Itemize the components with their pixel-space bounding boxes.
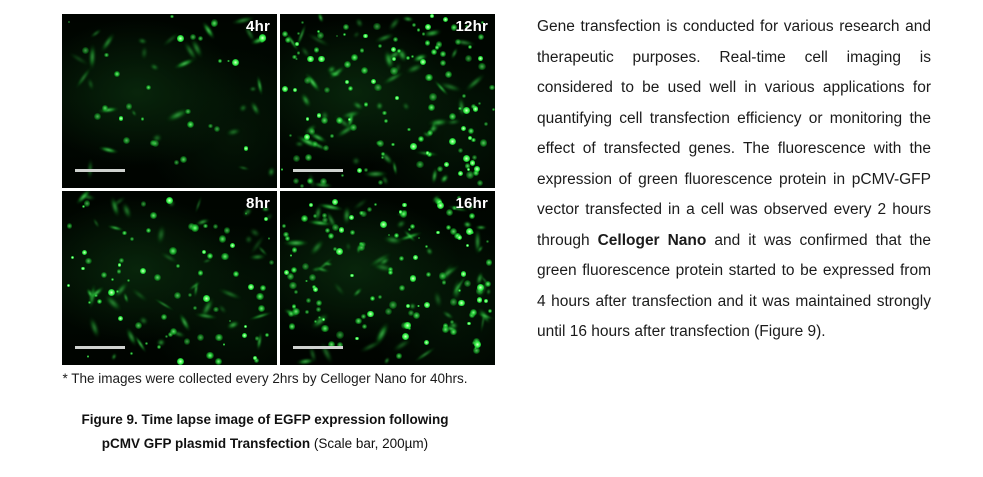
fluorescent-cell [468, 45, 472, 49]
fluorescent-cell [87, 355, 90, 358]
fluorescent-cell [389, 301, 396, 308]
fluorescent-cell [485, 287, 491, 295]
fluorescent-cell-bright [259, 34, 267, 42]
fluorescent-cell [336, 331, 344, 339]
figure-caption-line-2: pCMV GFP plasmid Transfection (Scale bar… [0, 432, 530, 456]
fluorescent-cell [185, 109, 191, 115]
fluorescent-cell [350, 230, 355, 235]
fluorescent-cell [283, 232, 289, 238]
fluorescent-cell [281, 168, 284, 171]
fluorescent-cell [304, 77, 311, 84]
fluorescent-cell [104, 53, 109, 58]
fluorescent-cell [390, 67, 398, 75]
fluorescent-cell [445, 71, 452, 78]
fluorescent-cell [417, 305, 420, 308]
fluorescent-cell [312, 141, 318, 147]
fluorescent-cell [440, 51, 446, 57]
fluorescent-cell [446, 209, 453, 216]
fluorescent-cell [364, 168, 368, 172]
scale-bar-16hr [293, 346, 343, 349]
fluorescent-cell-bright [313, 287, 318, 292]
body-paragraph: Gene transfection is conducted for vario… [537, 12, 931, 348]
fluorescent-cell [102, 105, 108, 111]
fluorescent-cell [305, 310, 308, 313]
fluorescent-cell [219, 235, 227, 243]
fluorescent-cell [211, 19, 219, 27]
fluorescent-cell [293, 155, 300, 162]
fluorescent-cell [117, 269, 122, 274]
fluorescent-cell [67, 223, 73, 229]
fluorescence-field-4hr [62, 14, 277, 188]
fluorescent-cell [282, 31, 289, 38]
fluorescent-cell [399, 256, 404, 261]
fluorescent-cell [119, 258, 124, 263]
fluorescent-cell [377, 140, 384, 147]
scale-bar-12hr [293, 169, 343, 172]
fluorescent-cell [427, 130, 433, 136]
fluorescent-cell [384, 119, 388, 123]
fluorescent-cell [233, 271, 239, 277]
fluorescent-cell-bright [461, 271, 466, 276]
fluorescent-cell [213, 307, 219, 313]
micrograph-panel-8hr[interactable]: 8hr [62, 191, 277, 365]
body-text-column: Gene transfection is conducted for vario… [537, 12, 931, 348]
fluorescent-cell-bright [426, 151, 430, 155]
fluorescent-cell-bright [318, 56, 325, 63]
body-text-part-1: Gene transfection is conducted for vario… [537, 18, 931, 249]
fluorescent-cell [306, 298, 311, 303]
fluorescent-cell [170, 15, 174, 19]
fluorescent-cell [355, 318, 362, 325]
fluorescent-cell [458, 148, 463, 153]
fluorescent-cell [289, 134, 292, 137]
fluorescent-cell [450, 329, 457, 336]
fluorescent-cell-bright [430, 14, 434, 18]
fluorescent-cell [297, 32, 300, 35]
fluorescence-field-8hr [62, 191, 277, 365]
fluorescent-cell-bright [473, 106, 479, 112]
fluorescent-cell-bright [350, 274, 354, 278]
fluorescent-cell [439, 272, 447, 280]
figure-note: * The images were collected every 2hrs b… [0, 370, 530, 388]
fluorescent-cell-bright [203, 295, 210, 302]
fluorescent-cell [458, 107, 462, 111]
fluorescent-cell [362, 324, 367, 329]
fluorescent-cell [255, 336, 260, 341]
scale-bar-8hr [75, 346, 125, 349]
fluorescent-cell [374, 84, 382, 92]
fluorescent-cell-bright [108, 289, 115, 296]
fluorescent-cell [82, 47, 89, 54]
fluorescent-cell [317, 32, 324, 39]
figure-caption: Figure 9. Time lapse image of EGFP expre… [0, 408, 530, 456]
fluorescent-cell [135, 322, 142, 329]
fluorescent-cell [203, 224, 208, 229]
fluorescent-cell [332, 224, 339, 231]
fluorescent-cell-bright [461, 126, 466, 131]
fluorescent-cell [260, 285, 266, 291]
fluorescent-cell [462, 94, 466, 98]
micrograph-panel-16hr[interactable]: 16hr [280, 191, 495, 365]
fluorescent-cell-bright [466, 228, 473, 235]
fluorescent-cell [130, 237, 134, 241]
fluorescent-cell [478, 63, 486, 71]
fluorescent-cell [321, 325, 328, 332]
fluorescent-cell [191, 224, 199, 232]
fluorescent-cell [208, 124, 213, 129]
fluorescent-cell [396, 353, 401, 358]
fluorescent-cell [316, 307, 321, 312]
fluorescent-cell [292, 247, 298, 253]
fluorescent-cell [442, 326, 449, 333]
fluorescent-cell-bright [477, 284, 484, 291]
fluorescent-cell-bright [395, 96, 399, 100]
fluorescent-cell-bright [363, 34, 368, 39]
fluorescent-cell [361, 314, 366, 319]
fluorescent-cell [361, 67, 368, 74]
fluorescent-cell [290, 254, 293, 257]
fluorescent-cell [418, 136, 424, 142]
fluorescent-cell-bright [177, 358, 184, 365]
fluorescent-cell [382, 111, 387, 116]
fluorescent-cell-bright [468, 136, 472, 140]
fluorescent-cell [330, 134, 334, 138]
fluorescence-field-12hr [280, 14, 495, 188]
fluorescent-cell [289, 282, 296, 289]
fluorescent-cell [289, 323, 296, 330]
fluorescent-cell [295, 142, 304, 146]
fluorescent-cell [146, 228, 151, 233]
fluorescent-cell [314, 47, 320, 53]
figure-caption-scalebar-note: (Scale bar, 200µm) [310, 436, 428, 451]
fluorescent-cell [417, 28, 421, 32]
fluorescent-cell [422, 32, 426, 36]
fluorescent-cell-bright [399, 210, 403, 214]
fluorescent-cell-bright [402, 203, 407, 208]
fluorescent-cell-bright [295, 42, 299, 46]
scale-bar-4hr [75, 169, 125, 172]
fluorescent-cell [300, 184, 304, 188]
fluorescent-cell [150, 212, 157, 219]
fluorescent-cell [391, 143, 394, 146]
fluorescent-cell [348, 86, 353, 91]
fluorescent-cell [88, 301, 91, 304]
fluorescent-cell [466, 171, 474, 179]
fluorescent-cell-bright [118, 263, 121, 266]
fluorescent-cell [351, 54, 358, 61]
panel-label-16hr: 16hr [456, 195, 489, 212]
fluorescent-cell [489, 85, 495, 91]
fluorescent-cell [169, 247, 177, 255]
fluorescent-cell-bright [424, 340, 429, 345]
fluorescent-cell-bright [444, 162, 449, 167]
fluorescent-cell [373, 23, 380, 30]
fluorescent-cell-bright [470, 160, 476, 166]
fluorescent-cell [188, 293, 192, 297]
fluorescent-cell [465, 55, 472, 62]
micrograph-panel-grid: 4hr 12hr 8hr 16hr [62, 14, 495, 365]
fluorescent-cell [224, 227, 231, 234]
panel-label-8hr: 8hr [246, 195, 270, 212]
fluorescent-cell [297, 51, 301, 55]
fluorescent-cell-bright [474, 166, 480, 172]
fluorescent-cell-bright [436, 231, 440, 235]
panel-label-12hr: 12hr [456, 18, 489, 35]
figure-caption-line-1: Figure 9. Time lapse image of EGFP expre… [0, 408, 530, 432]
fluorescent-cell [407, 128, 411, 132]
fluorescent-cell [343, 33, 346, 36]
micrograph-panel-4hr[interactable]: 4hr [62, 14, 277, 188]
fluorescent-cell-bright [230, 243, 235, 248]
fluorescent-cell [429, 93, 437, 101]
fluorescent-cell-bright [477, 297, 482, 302]
fluorescent-cell [126, 103, 133, 110]
fluorescent-cell-bright [474, 341, 481, 348]
fluorescent-cell-bright [404, 322, 410, 328]
fluorescent-cell [292, 308, 300, 316]
fluorescent-cell [428, 104, 435, 111]
body-text-emphasis-celloger-nano: Celloger Nano [598, 232, 707, 249]
fluorescent-cell [311, 266, 321, 271]
fluorescent-cell [450, 320, 454, 324]
fluorescent-cell-bright [248, 284, 254, 290]
fluorescent-cell-bright [478, 56, 483, 61]
fluorescent-cell [215, 358, 222, 365]
fluorescent-cell-bright [309, 203, 313, 207]
fluorescent-cell [214, 126, 220, 132]
panel-label-4hr: 4hr [246, 18, 270, 35]
figure-caption-title: pCMV GFP plasmid Transfection [102, 436, 310, 451]
fluorescent-cell-bright [336, 248, 343, 255]
fluorescent-cell [322, 213, 327, 218]
fluorescent-cell-bright [463, 107, 470, 114]
fluorescent-cell [123, 137, 130, 144]
fluorescent-cell-bright [410, 143, 417, 150]
fluorescent-cell [176, 264, 180, 268]
fluorescent-cell [94, 113, 101, 120]
fluorescent-cell [323, 145, 329, 151]
fluorescent-cell [174, 292, 181, 299]
fluorescent-cell [282, 224, 286, 228]
fluorescent-cell-bright [484, 299, 488, 303]
fluorescent-cell [85, 258, 92, 265]
fluorescent-cell [469, 213, 475, 219]
fluorescent-cell [190, 34, 196, 40]
fluorescent-cell [458, 289, 461, 292]
fluorescent-cell-bright [177, 35, 184, 42]
fluorescent-cell [318, 316, 321, 319]
fluorescent-cell [174, 160, 179, 165]
figure-column: 4hr 12hr 8hr 16hr * The i [0, 0, 530, 477]
fluorescent-cell-bright [413, 255, 418, 260]
fluorescence-field-16hr [280, 191, 495, 365]
fluorescent-cell-bright [282, 86, 288, 92]
fluorescent-cell-bright [307, 56, 314, 63]
fluorescent-cell [435, 45, 440, 50]
fluorescent-cell [221, 253, 229, 261]
micrograph-panel-12hr[interactable]: 12hr [280, 14, 495, 188]
fluorescent-cell [343, 24, 349, 30]
fluorescent-cell-bright [467, 322, 471, 326]
fluorescent-cell [425, 245, 428, 248]
fluorescent-cell-bright [367, 311, 373, 317]
fluorescent-cell [114, 71, 120, 77]
fluorescent-cell [180, 156, 187, 163]
fluorescent-cell [122, 231, 127, 236]
fluorescent-cell-bright [402, 333, 409, 340]
